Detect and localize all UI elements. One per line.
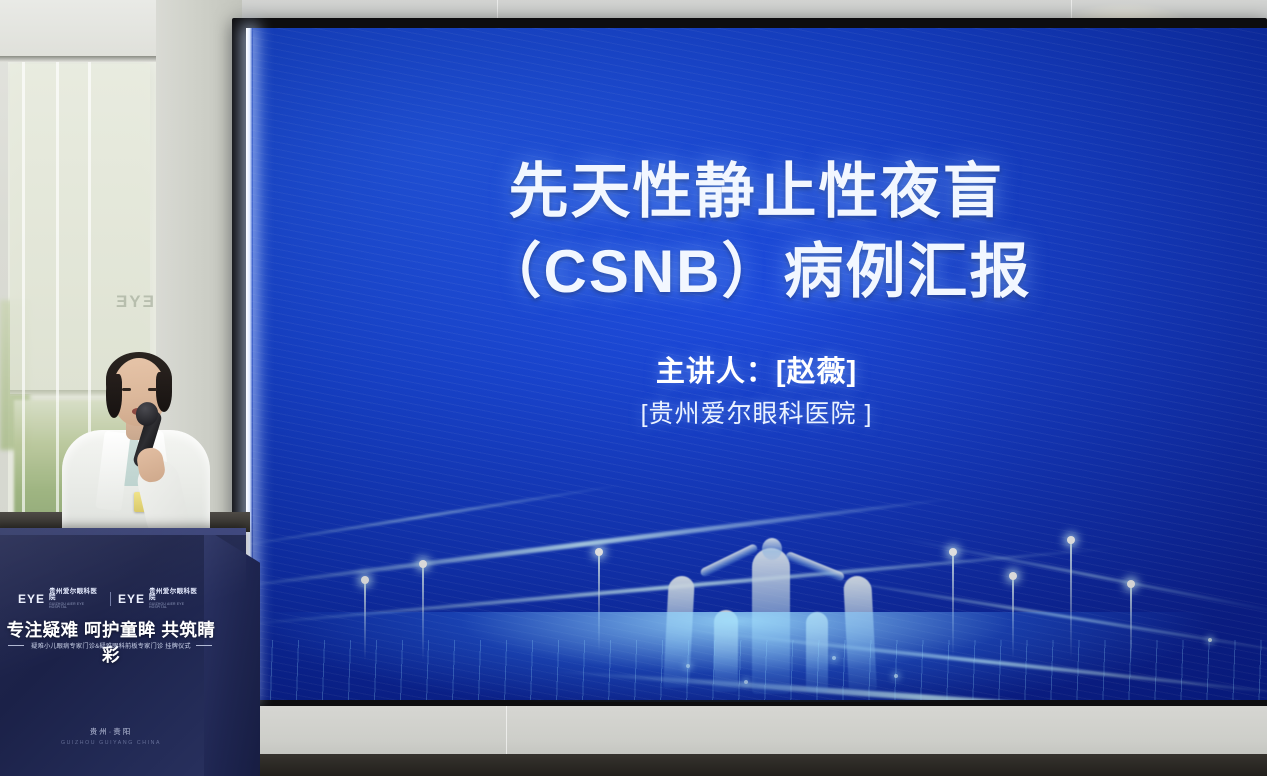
eye-logo-right-pinyin: GUIZHOU AIER EYE HOSPITAL [149, 603, 203, 610]
glass-eye-logo-reflection: EYE [84, 292, 154, 318]
eye-logo-right-text: 贵州爱尔眼科医院 GUIZHOU AIER EYE HOSPITAL [149, 589, 203, 610]
eye-logo-left-pinyin: GUIZHOU AIER EYE HOSPITAL [49, 603, 103, 610]
eye-logo-right: EYE 贵州爱尔眼科医院 GUIZHOU AIER EYE HOSPITAL [118, 589, 203, 610]
slide-title: 先天性静止性夜盲 （CSNB）病例汇报 [246, 152, 1267, 313]
window-blind [10, 64, 150, 394]
podium-date-line: GUIZHOU GUIYANG CHINA [2, 740, 220, 746]
presentation-room-photo: EYE [0, 0, 1267, 776]
glass-mullion [22, 62, 25, 532]
hair-strand-left [106, 374, 122, 418]
slide-presenter: 主讲人：[赵薇] [246, 348, 1267, 390]
lower-wall-panel [242, 706, 1267, 756]
wall-soffit [0, 0, 160, 58]
podium-subline: 疑难小儿眼病专家门诊&疑难眼科前板专家门诊 挂牌仪式 [2, 641, 220, 650]
eye-logo-left-cn: 贵州爱尔眼科医院 [49, 589, 103, 602]
eye-logo-left-text: 贵州爱尔眼科医院 GUIZHOU AIER EYE HOSPITAL [49, 589, 103, 610]
eye-right [148, 388, 157, 391]
podium-city: 贵州·贵阳 [2, 726, 220, 737]
soffit-shadow [0, 56, 160, 62]
slide-title-line-1: 先天性静止性夜盲 [246, 152, 1267, 232]
eye-logo-left: EYE 贵州爱尔眼科医院 GUIZHOU AIER EYE HOSPITAL [18, 589, 103, 610]
lower-wall-seam [506, 706, 507, 756]
eye-wordmark-icon: EYE [18, 592, 45, 606]
eye-logo-right-cn: 贵州爱尔眼科医院 [149, 589, 203, 602]
baseboard [242, 754, 1267, 776]
eye-left [122, 388, 131, 391]
eye-wordmark-icon: EYE [118, 592, 145, 606]
hair-strand-right [156, 372, 172, 412]
screen-floor-grid [246, 640, 1267, 700]
slide-affiliation: [贵州爱尔眼科医院 ] [246, 394, 1267, 430]
slide-title-line-2: （CSNB）病例汇报 [246, 232, 1267, 312]
speaker [56, 352, 216, 542]
logo-divider [110, 592, 111, 606]
podium-logo-row: EYE 贵州爱尔眼科医院 GUIZHOU AIER EYE HOSPITAL E… [18, 588, 203, 610]
